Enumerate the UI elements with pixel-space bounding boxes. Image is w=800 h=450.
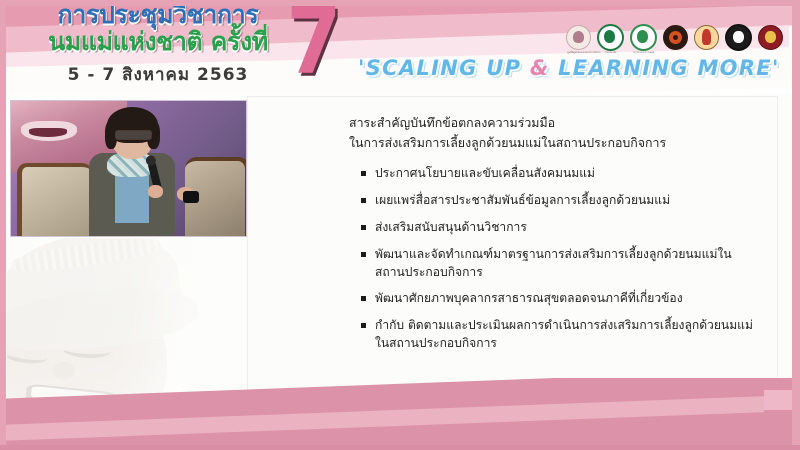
royal-seal-logo [758, 25, 783, 50]
content-panel: สาระสำคัญบันทึกข้อตกลงความร่วมมือ ในการส… [247, 96, 778, 413]
square-bullet-icon [361, 225, 366, 230]
list-item: พัฒนาและจัดทำเกณฑ์มาตรฐานการส่งเสริมการเ… [361, 246, 759, 282]
conference-title-line2: นมแม่แห่งชาติ ครั้งที่ [18, 29, 298, 55]
square-bullet-icon [361, 252, 366, 257]
slide-canvas: 7 การประชุมวิชาการ นมแม่แห่งชาติ ครั้งที… [0, 0, 800, 450]
social-development-logo [725, 24, 752, 51]
chair-left [17, 163, 92, 237]
bullet-text: ประกาศนโยบายและขับเคลื่อนสังคมนมแม่ [375, 165, 595, 183]
list-item: กำกับ ติดตามและประเมินผลการดำเนินการส่งเ… [361, 317, 759, 353]
presentation-clicker [183, 191, 199, 203]
conference-tagline: 'SCALING UP & LEARNING MORE' [358, 56, 780, 80]
frame-border-top [0, 0, 800, 6]
conference-date: 5 - 7 สิงหาคม 2563 [18, 61, 298, 88]
list-item: พัฒนาศักยภาพบุคลากรสาธารณสุขตลอดจนภาคีที… [361, 290, 759, 308]
labour-ministry-logo [663, 25, 688, 50]
square-bullet-icon [361, 296, 366, 301]
thai-garuda-logo [694, 25, 719, 50]
ministry-public-health-logo-caption: กรมอนามัย [599, 51, 622, 55]
ministry-public-health-logo: กรมอนามัย [597, 24, 624, 51]
frame-border-bottom [0, 445, 800, 450]
partner-logo-strip: มูลนิธิศูนย์นมแม่แห่งประเทศไทย กรมอนามัย… [566, 24, 800, 51]
tagline-ampersand: & [530, 56, 550, 80]
bullet-text: พัฒนาและจัดทำเกณฑ์มาตรฐานการส่งเสริมการเ… [375, 246, 759, 282]
square-bullet-icon [361, 323, 366, 328]
square-bullet-icon [361, 171, 366, 176]
frame-border-left [0, 0, 6, 450]
bullet-text: ส่งเสริมสนับสนุนด้านวิชาการ [375, 219, 527, 237]
tagline-part-2: LEARNING MORE' [550, 56, 780, 80]
wedge-right-highlight [764, 390, 792, 410]
list-item: เผยแพร่สื่อสารประชาสัมพันธ์ข้อมูลการเลี้… [361, 192, 759, 210]
conference-title-block: การประชุมวิชาการ นมแม่แห่งชาติ ครั้งที่ … [18, 2, 298, 88]
list-item: ส่งเสริมสนับสนุนด้านวิชาการ [361, 219, 759, 237]
bullet-list: ประกาศนโยบายและขับเคลื่อนสังคมนมแม่ เผยแ… [361, 165, 759, 362]
frame-border-right [792, 0, 800, 450]
speaker-hand-left [148, 185, 163, 198]
list-item: ประกาศนโยบายและขับเคลื่อนสังคมนมแม่ [361, 165, 759, 183]
tagline-part-1: 'SCALING UP [358, 56, 530, 80]
content-heading-line2: ในการส่งเสริมการเลี้ยงลูกด้วยนมแม่ในสถาน… [349, 133, 749, 153]
health-department-logo: กระทรวงสาธารณสุข [630, 24, 657, 51]
bottom-pink-wedge [0, 378, 800, 450]
health-department-logo-caption: กระทรวงสาธารณสุข [632, 51, 655, 55]
speaker-video-thumbnail[interactable] [10, 100, 247, 237]
bullet-text: กำกับ ติดตามและประเมินผลการดำเนินการส่งเ… [375, 317, 759, 353]
content-heading-line1: สาระสำคัญบันทึกข้อตกลงความร่วมมือ [349, 113, 749, 133]
bullet-text: เผยแพร่สื่อสารประชาสัมพันธ์ข้อมูลการเลี้… [375, 192, 670, 210]
bullet-text: พัฒนาศักยภาพบุคลากรสาธารณสุขตลอดจนภาคีที… [375, 290, 683, 308]
speaker-glasses [115, 130, 152, 140]
content-heading: สาระสำคัญบันทึกข้อตกลงความร่วมมือ ในการส… [349, 113, 749, 153]
royal-emblem-logo-caption: มูลนิธิศูนย์นมแม่แห่งประเทศไทย [567, 51, 590, 55]
royal-emblem-logo: มูลนิธิศูนย์นมแม่แห่งประเทศไทย [566, 25, 591, 50]
square-bullet-icon [361, 198, 366, 203]
